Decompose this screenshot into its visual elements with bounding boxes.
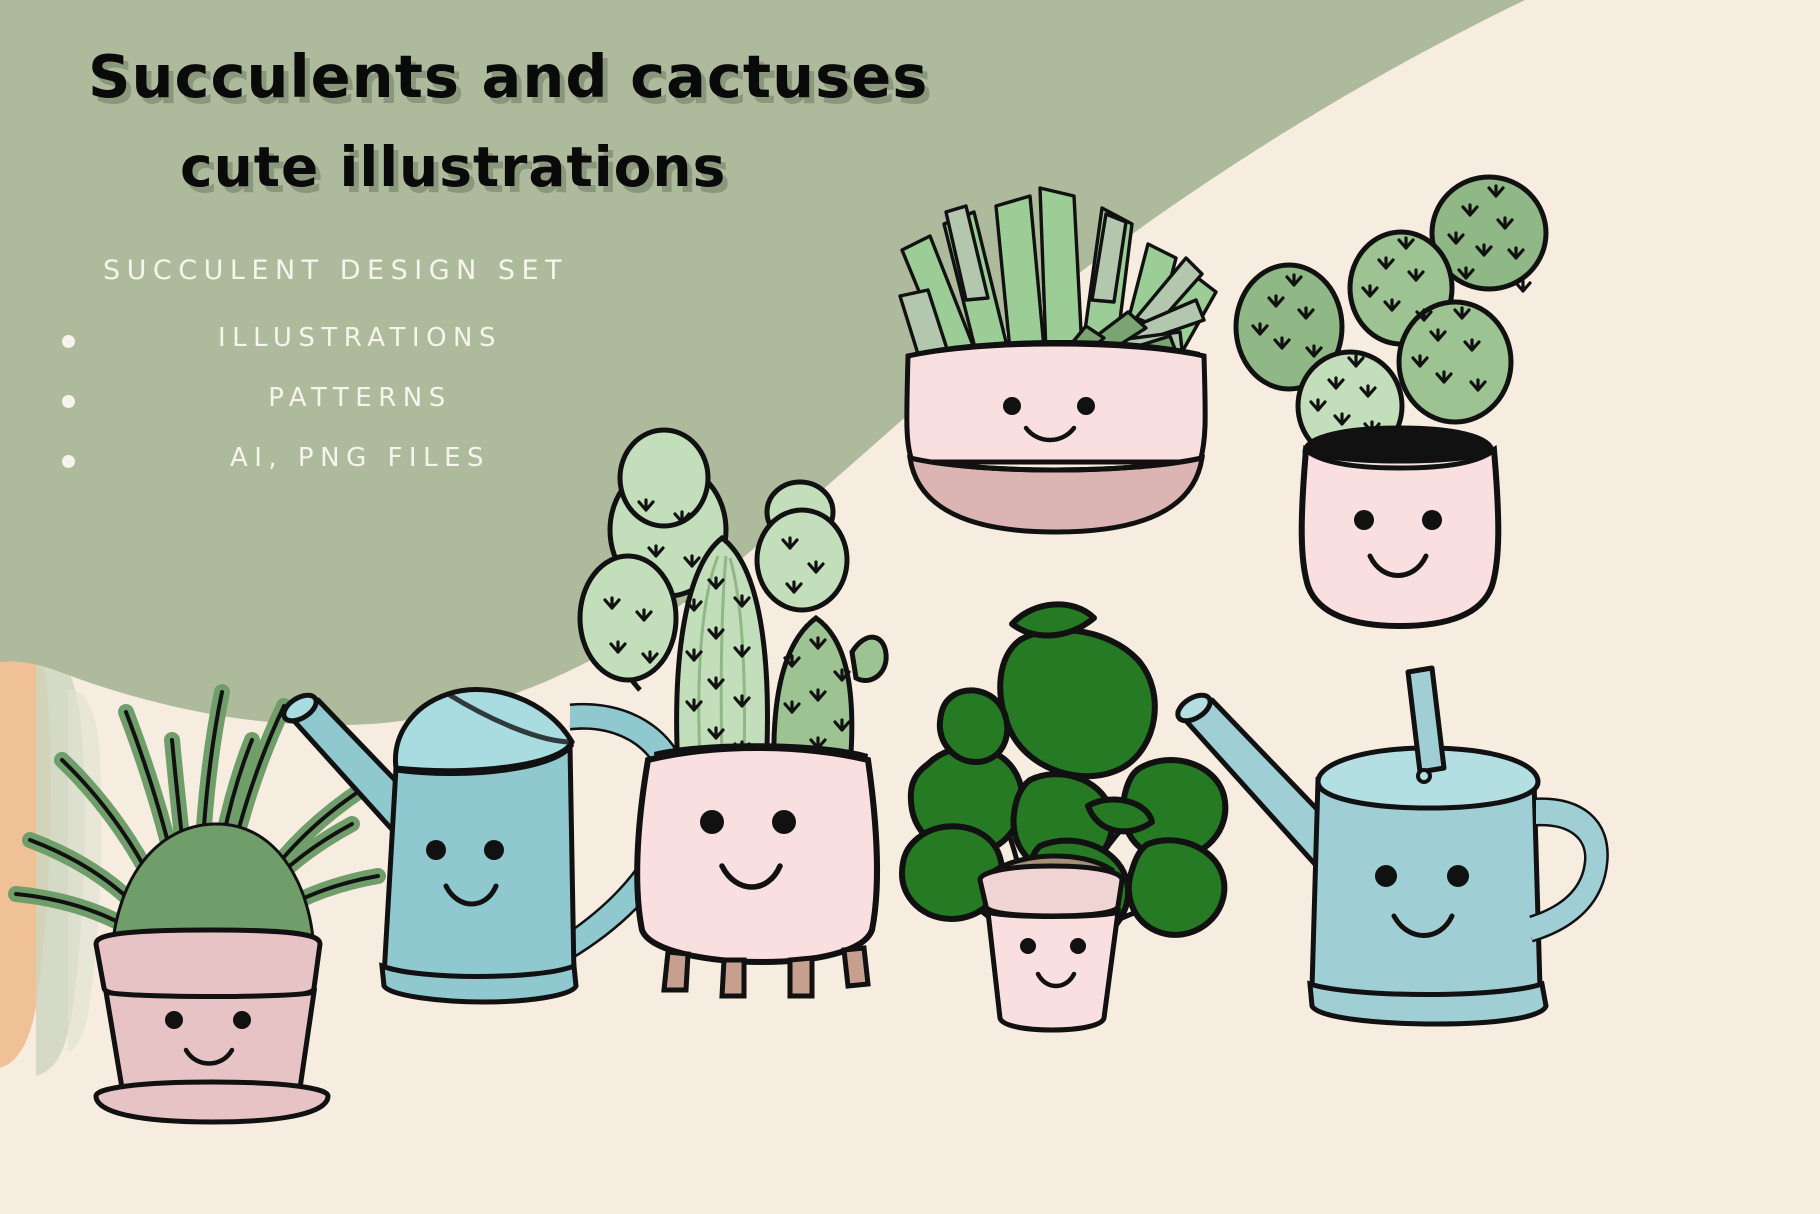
pilea-leaf-right-lower bbox=[1129, 840, 1225, 935]
spider-plant-pot-rim bbox=[96, 930, 320, 998]
succulent-bowl-body bbox=[907, 344, 1205, 462]
watering-can-right-body bbox=[1312, 780, 1540, 1008]
spider-plant-saucer bbox=[96, 1082, 328, 1122]
illustration-artwork bbox=[0, 0, 1820, 1214]
pilea-pot-body bbox=[988, 912, 1118, 1030]
cactus-pad-top-small bbox=[620, 430, 708, 526]
legged-pot-body bbox=[637, 748, 877, 962]
cactus-nub-right bbox=[852, 637, 886, 680]
cactus-pad-left-lower bbox=[580, 556, 676, 680]
pilea-pot-rim bbox=[980, 866, 1122, 916]
pilea-leaf-narrow-left bbox=[940, 690, 1007, 762]
poster-canvas: Succulents and cactuses cute illustratio… bbox=[0, 0, 1820, 1214]
watering-can-body bbox=[384, 746, 574, 992]
prickly-pear-pot-body bbox=[1302, 450, 1499, 626]
cactus-pad-right-mid bbox=[757, 510, 847, 610]
